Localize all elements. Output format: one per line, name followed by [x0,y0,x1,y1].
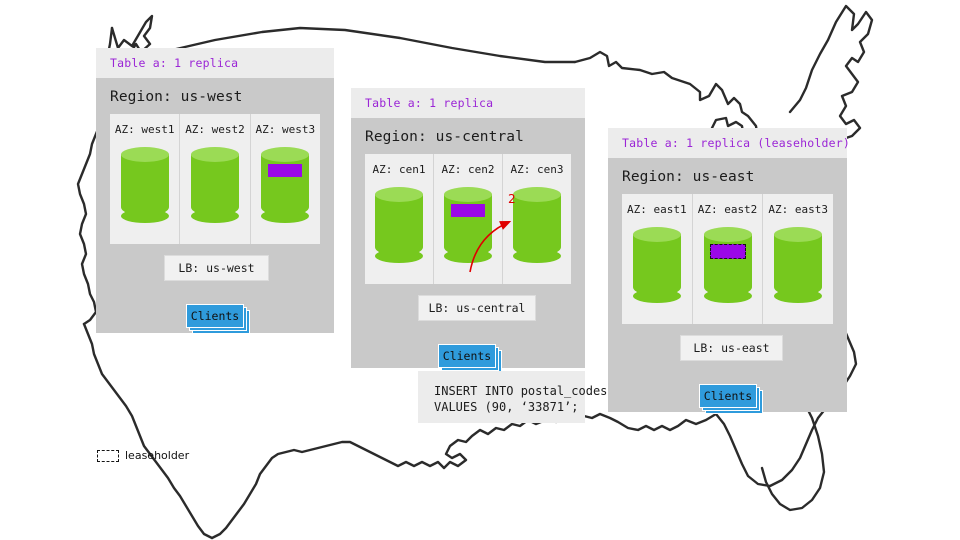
sql-statement-box: INSERT INTO postal_codes VALUES (90, ‘33… [418,371,585,423]
region-body-us-east: Region: us-east AZ: east1 AZ: east2 [608,158,847,412]
replica-block [451,204,485,217]
az-label: AZ: west2 [185,123,245,136]
arrow-step-label: 2 [508,192,516,206]
cylinder-top [121,147,169,162]
replica-block [268,164,302,177]
region-title-us-west: Region: us-west [96,78,334,114]
diagram-canvas: Table a: 1 replica Region: us-west AZ: w… [0,0,960,540]
az-label: AZ: cen1 [373,163,426,176]
lb-label: LB: us-east [693,341,769,355]
replica-block-leaseholder [710,244,746,259]
load-balancer-us-central[interactable]: LB: us-central [418,295,536,321]
az-strip-us-east: AZ: east1 AZ: east2 [622,194,833,324]
cylinder-body [633,234,681,296]
legend-label: leaseholder [125,449,189,462]
cylinder-body [513,194,561,256]
clients-label: Clients [699,384,757,408]
az-cell-east2[interactable]: AZ: east2 [693,194,764,324]
az-label: AZ: west3 [256,123,316,136]
cylinder-top [704,227,752,242]
region-panel-us-east: Table a: 1 replica (leaseholder) Region:… [608,128,847,412]
db-node-cylinder[interactable] [633,227,681,303]
az-cell-west1[interactable]: AZ: west1 [110,114,180,244]
table-band-us-east: Table a: 1 replica (leaseholder) [608,128,847,158]
table-band-us-central: Table a: 1 replica [351,88,585,118]
cylinder-top [375,187,423,202]
legend: leaseholder [97,449,189,462]
region-body-us-central: Region: us-central AZ: cen1 AZ: cen2 [351,118,585,368]
db-node-cylinder[interactable] [513,187,561,263]
sql-text: INSERT INTO postal_codes VALUES (90, ‘33… [434,384,607,414]
db-node-cylinder[interactable] [375,187,423,263]
az-label: AZ: east3 [768,203,828,216]
cylinder-top [191,147,239,162]
table-replica-label: Table a: 1 replica [365,96,493,110]
lb-label: LB: us-west [178,261,254,275]
az-cell-cen2[interactable]: AZ: cen2 [434,154,503,284]
clients-us-central[interactable]: Clients [438,344,498,370]
db-node-cylinder[interactable] [121,147,169,223]
cylinder-body [774,234,822,296]
cylinder-top [513,187,561,202]
db-node-cylinder[interactable] [191,147,239,223]
clients-label: Clients [186,304,244,328]
az-strip-us-west: AZ: west1 AZ: west2 AZ [110,114,320,244]
az-cell-cen3[interactable]: AZ: cen3 [503,154,571,284]
region-panel-us-central: Table a: 1 replica Region: us-central AZ… [351,88,585,368]
db-node-cylinder[interactable] [261,147,309,223]
lb-label: LB: us-central [429,301,526,315]
db-node-cylinder[interactable] [444,187,492,263]
az-cell-east3[interactable]: AZ: east3 [763,194,833,324]
region-title-us-east: Region: us-east [608,158,847,194]
az-label: AZ: west1 [115,123,175,136]
cylinder-body [191,154,239,216]
region-title-us-central: Region: us-central [351,118,585,154]
az-cell-cen1[interactable]: AZ: cen1 [365,154,434,284]
clients-label: Clients [438,344,496,368]
az-label: AZ: east2 [698,203,758,216]
az-cell-west2[interactable]: AZ: west2 [180,114,250,244]
az-label: AZ: cen2 [442,163,495,176]
az-label: AZ: east1 [627,203,687,216]
cylinder-top [261,147,309,162]
table-replica-label: Table a: 1 replica (leaseholder) [622,136,850,150]
az-label: AZ: cen3 [511,163,564,176]
load-balancer-us-east[interactable]: LB: us-east [680,335,783,361]
az-strip-us-central: AZ: cen1 AZ: cen2 [365,154,571,284]
clients-us-east[interactable]: Clients [699,384,759,410]
table-replica-label: Table a: 1 replica [110,56,238,70]
region-panel-us-west: Table a: 1 replica Region: us-west AZ: w… [96,48,334,333]
cylinder-top [774,227,822,242]
leaseholder-swatch-icon [97,450,119,462]
region-body-us-west: Region: us-west AZ: west1 AZ: west2 [96,78,334,333]
cylinder-top [633,227,681,242]
table-band-us-west: Table a: 1 replica [96,48,334,78]
az-cell-east1[interactable]: AZ: east1 [622,194,693,324]
db-node-cylinder[interactable] [704,227,752,303]
cylinder-top [444,187,492,202]
cylinder-body [375,194,423,256]
load-balancer-us-west[interactable]: LB: us-west [164,255,269,281]
db-node-cylinder[interactable] [774,227,822,303]
clients-us-west[interactable]: Clients [186,304,246,330]
cylinder-body [121,154,169,216]
az-cell-west3[interactable]: AZ: west3 [251,114,320,244]
